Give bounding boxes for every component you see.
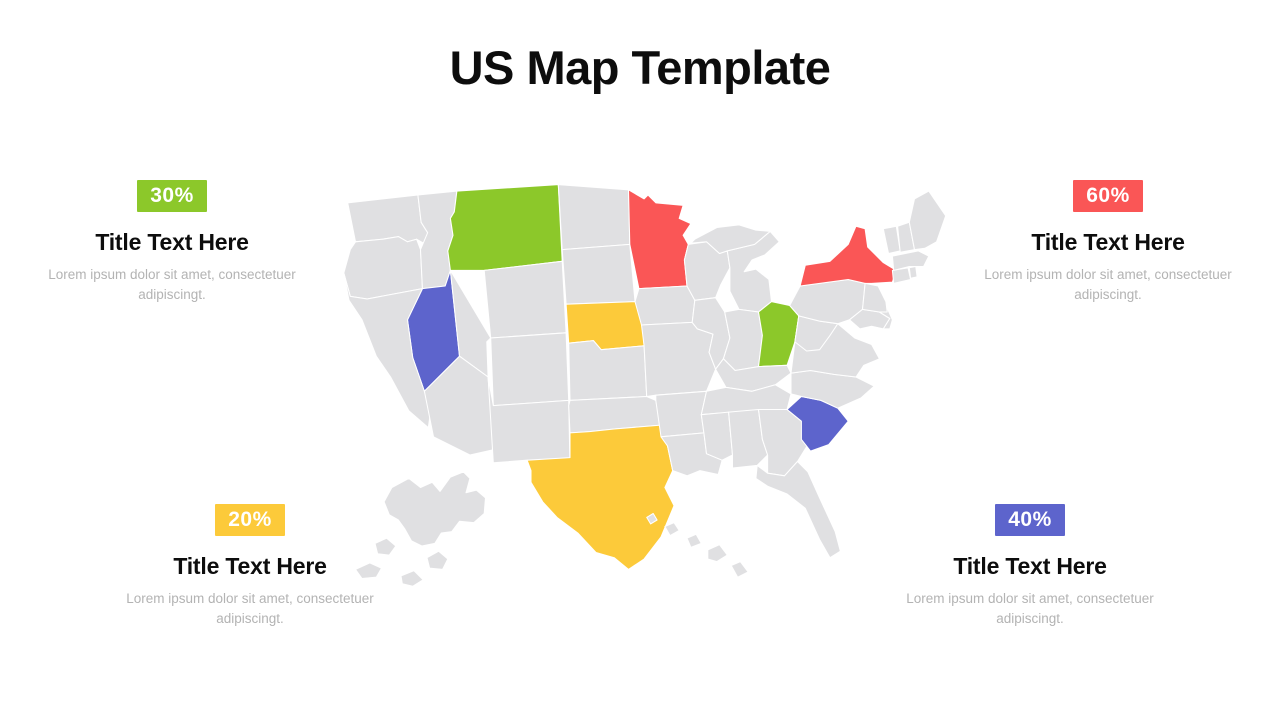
- slide-canvas: US Map Template: [0, 0, 1280, 720]
- united-states-map[interactable]: [336, 178, 960, 602]
- info-block-top-left: 30% Title Text Here Lorem ipsum dolor si…: [32, 180, 312, 304]
- state-new-jersey[interactable]: [863, 283, 888, 312]
- state-new-york[interactable]: [800, 226, 896, 286]
- page-title: US Map Template: [0, 42, 1280, 94]
- percent-badge-40[interactable]: 40%: [995, 504, 1065, 536]
- block-title-top-left: Title Text Here: [32, 229, 312, 256]
- state-missouri[interactable]: [642, 322, 716, 396]
- percent-badge-60[interactable]: 60%: [1073, 180, 1143, 212]
- state-mississippi[interactable]: [701, 412, 732, 460]
- state-montana[interactable]: [448, 185, 562, 271]
- state-arkansas[interactable]: [656, 391, 707, 437]
- state-iowa[interactable]: [635, 286, 695, 325]
- percent-badge-20[interactable]: 20%: [215, 504, 285, 536]
- info-block-bottom-left: 20% Title Text Here Lorem ipsum dolor si…: [110, 504, 390, 628]
- us-map-container[interactable]: [336, 178, 960, 602]
- state-south-dakota[interactable]: [562, 244, 635, 304]
- state-oregon[interactable]: [344, 237, 423, 299]
- info-block-top-right: 60% Title Text Here Lorem ipsum dolor si…: [968, 180, 1248, 304]
- state-rhode-island[interactable]: [909, 267, 917, 279]
- state-maine[interactable]: [909, 191, 945, 250]
- state-wyoming[interactable]: [484, 261, 566, 338]
- state-north-dakota[interactable]: [558, 185, 630, 250]
- percent-badge-30[interactable]: 30%: [137, 180, 207, 212]
- state-minnesota[interactable]: [629, 190, 691, 289]
- info-block-bottom-right: 40% Title Text Here Lorem ipsum dolor si…: [890, 504, 1170, 628]
- block-title-top-right: Title Text Here: [968, 229, 1248, 256]
- state-colorado[interactable]: [491, 333, 569, 406]
- state-washington[interactable]: [348, 195, 428, 244]
- block-desc-bottom-right: Lorem ipsum dolor sit amet, consectetuer…: [905, 589, 1155, 628]
- block-desc-top-right: Lorem ipsum dolor sit amet, consectetuer…: [983, 265, 1233, 304]
- block-desc-top-left: Lorem ipsum dolor sit amet, consectetuer…: [47, 265, 297, 304]
- block-desc-bottom-left: Lorem ipsum dolor sit amet, consectetuer…: [125, 589, 375, 628]
- state-indiana[interactable]: [723, 309, 762, 370]
- state-kansas[interactable]: [569, 341, 647, 401]
- block-title-bottom-right: Title Text Here: [890, 553, 1170, 580]
- block-title-bottom-left: Title Text Here: [110, 553, 390, 580]
- state-florida[interactable]: [756, 462, 841, 558]
